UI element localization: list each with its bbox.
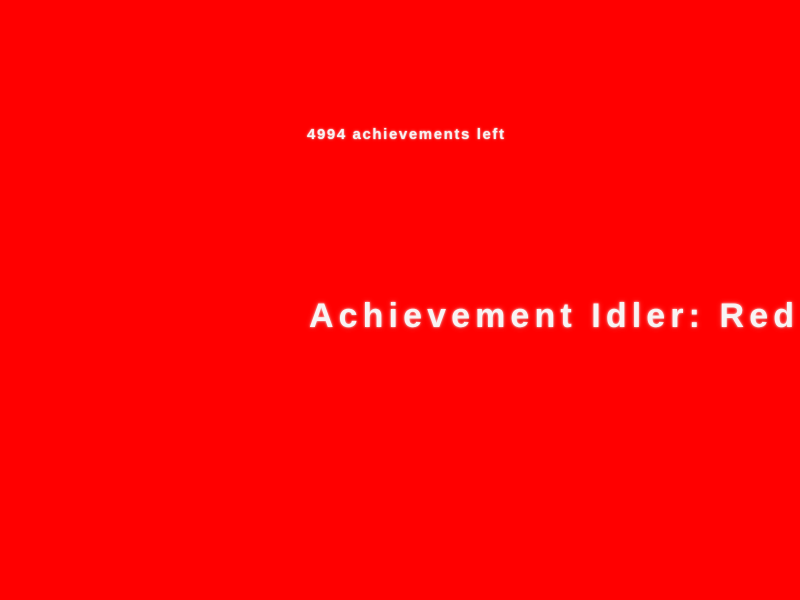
game-title: Achievement Idler: Red xyxy=(309,296,799,336)
achievements-remaining-counter: 4994 achievements left xyxy=(307,126,506,144)
game-screen[interactable]: 4994 achievements left Achievement Idler… xyxy=(0,0,800,600)
